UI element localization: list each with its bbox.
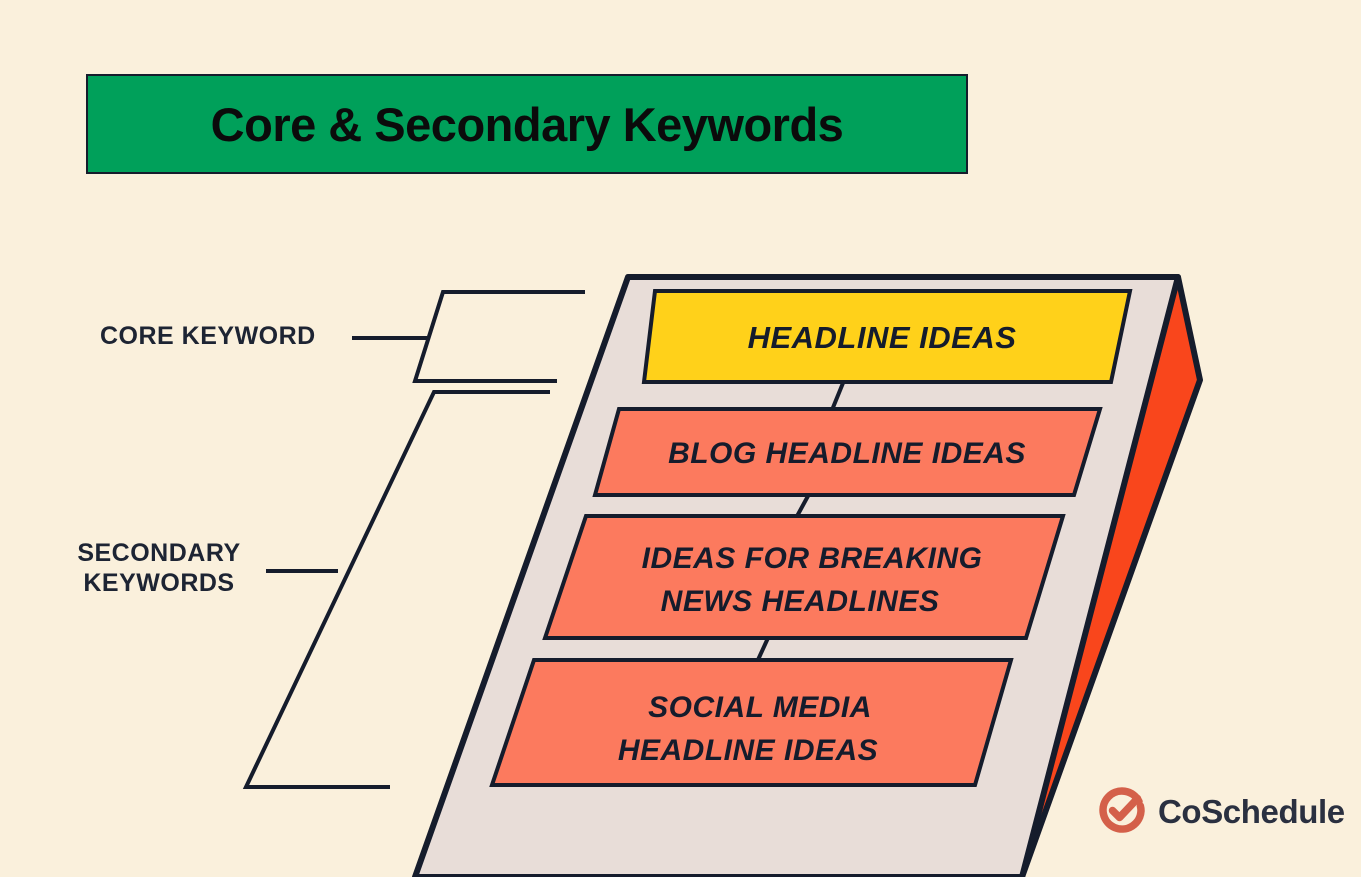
keyword-box-secondary-keyword-1-label: BLOG HEADLINE IDEAS — [668, 437, 1026, 470]
keyword-box-secondary-keyword-3-label-line-1: SOCIAL MEDIA — [648, 691, 872, 724]
keyword-box-secondary-keyword-3[interactable]: SOCIAL MEDIA HEADLINE IDEAS — [492, 660, 1011, 785]
coschedule-check-icon — [1098, 787, 1146, 835]
keyword-box-core-keyword[interactable]: HEADLINE IDEAS — [644, 291, 1130, 382]
keyword-box-secondary-keyword-2-shape[interactable] — [545, 516, 1063, 638]
coschedule-logo: CoSchedule — [1098, 787, 1345, 835]
keyword-box-secondary-keyword-2[interactable]: IDEAS FOR BREAKING NEWS HEADLINES — [545, 516, 1063, 638]
bracket-core-keyword — [352, 292, 585, 381]
keyword-box-secondary-keyword-2-label-line-1: IDEAS FOR BREAKING — [642, 542, 983, 575]
keyword-panel-illustration: HEADLINE IDEAS BLOG HEADLINE IDEAS IDEAS… — [0, 0, 1361, 877]
keyword-box-core-keyword-label: HEADLINE IDEAS — [748, 320, 1017, 355]
keyword-box-secondary-keyword-3-label-line-2: HEADLINE IDEAS — [618, 734, 878, 767]
infographic-canvas: Core & Secondary Keywords CORE KEYWORD S… — [0, 0, 1361, 877]
keyword-box-secondary-keyword-2-label-line-2: NEWS HEADLINES — [661, 585, 940, 618]
coschedule-wordmark: CoSchedule — [1158, 795, 1345, 828]
keyword-box-secondary-keyword-1[interactable]: BLOG HEADLINE IDEAS — [595, 409, 1100, 495]
